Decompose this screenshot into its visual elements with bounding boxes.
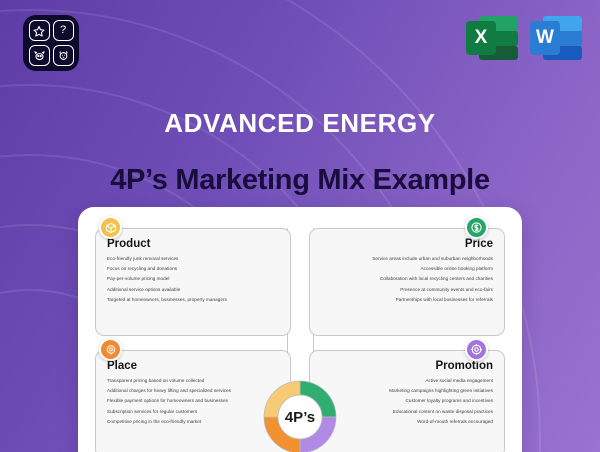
brand-logo[interactable]: ? <box>23 15 79 71</box>
office-icons: X W <box>466 12 582 64</box>
diagram-card: Product Eco-friendly junk removal servic… <box>78 207 522 452</box>
quadrant-item: Additional service options available <box>107 288 279 293</box>
excel-icon-letter: X <box>466 21 496 55</box>
quadrant-price[interactable]: Price Service areas include urban and su… <box>309 228 505 336</box>
dollar-coin-icon <box>465 216 488 239</box>
quadrant-item: Eco-friendly junk removal services <box>107 257 279 262</box>
quadrant-title: Place <box>107 360 279 372</box>
quadrant-item: Service areas include urban and suburban… <box>321 257 493 262</box>
cow-icon <box>29 45 50 66</box>
question-mark-icon: ? <box>53 20 74 41</box>
quadrant-item: Pay-per-volume pricing model <box>107 277 279 282</box>
page-title: 4P’s Marketing Mix Example <box>0 164 600 197</box>
donut-center-label: 4P’s <box>256 373 344 452</box>
quadrant-item: Word-of-mouth referrals encouraged <box>321 420 493 425</box>
package-icon <box>99 216 122 239</box>
quadrant-item: Focus on recycling and donations <box>107 267 279 272</box>
quadrant-item: Competitive pricing in the eco-friendly … <box>107 420 279 425</box>
quadrant-item: Flexible payment options for homeowners … <box>107 399 279 404</box>
quadrant-item: Collaboration with local recycling cente… <box>321 277 493 282</box>
quadrant-item: Educational content on waste disposal pr… <box>321 410 493 415</box>
quadrant-item: Customer loyalty programs and incentives <box>321 399 493 404</box>
donut-chart: 4P’s <box>256 373 344 452</box>
excel-icon[interactable]: X <box>466 12 518 64</box>
quadrant-item: Active social media engagement <box>321 379 493 384</box>
word-icon[interactable]: W <box>530 12 582 64</box>
quadrant-item: Accessible online booking platform <box>321 267 493 272</box>
quadrant-title: Promotion <box>321 360 493 372</box>
quadrant-item: Additional charges for heavy lifting and… <box>107 389 279 394</box>
quadrant-item: Presence at community events and eco-fai… <box>321 288 493 293</box>
slide-canvas: ? X W ADVANCED ENERGY 4P’s Marketing Mix… <box>0 0 600 452</box>
target-icon <box>465 338 488 361</box>
location-pin-icon <box>99 338 122 361</box>
quadrant-item: Partnerships with local businesses for r… <box>321 298 493 303</box>
quadrant-item: Targeted at homeowners, businesses, prop… <box>107 298 279 303</box>
star-icon <box>29 20 50 41</box>
quadrant-title: Product <box>107 238 279 250</box>
quadrant-item: Transparent pricing based on volume coll… <box>107 379 279 384</box>
quadrant-grid: Product Eco-friendly junk removal servic… <box>78 207 522 452</box>
word-icon-letter: W <box>530 21 560 55</box>
quadrant-item: Marketing campaigns highlighting green i… <box>321 389 493 394</box>
quadrant-item: Subscription services for regular custom… <box>107 410 279 415</box>
dog-icon <box>53 45 74 66</box>
quadrant-product[interactable]: Product Eco-friendly junk removal servic… <box>95 228 291 336</box>
quadrant-title: Price <box>321 238 493 250</box>
kicker-text: ADVANCED ENERGY <box>0 108 600 139</box>
